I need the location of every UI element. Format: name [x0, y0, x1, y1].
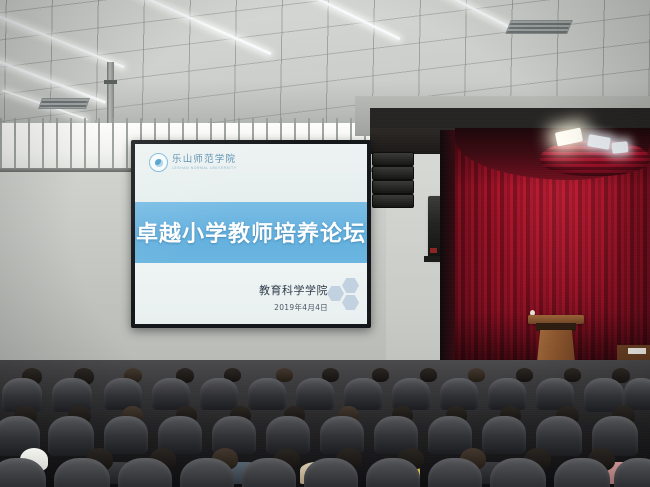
ceiling-air-vent-right [505, 20, 573, 34]
podium-neck [536, 323, 576, 331]
auditorium-seat [488, 378, 526, 410]
auditorium-photo: 乐山师范学院 LESHAN NORMAL UNIVERSITY 卓越小学教师培养… [0, 0, 650, 487]
presentation-slide: 乐山师范学院 LESHAN NORMAL UNIVERSITY 卓越小学教师培养… [135, 144, 367, 324]
auditorium-seat [104, 416, 148, 454]
line-array-speaker [372, 152, 412, 208]
side-table-paper [628, 348, 646, 354]
slide-title-band: 卓越小学教师培养论坛 [135, 202, 367, 263]
slide-title: 卓越小学教师培养论坛 [136, 216, 366, 248]
auditorium-seat [624, 378, 650, 410]
auditorium-seat [180, 458, 234, 487]
auditorium-seat [118, 458, 172, 487]
university-name-en: LESHAN NORMAL UNIVERSITY [172, 167, 237, 170]
speaker-brand-badge [430, 248, 437, 253]
auditorium-seat [428, 458, 482, 487]
seated-audience [0, 360, 650, 487]
university-emblem-icon [149, 153, 168, 172]
auditorium-seat [428, 416, 472, 454]
university-name-cn: 乐山师范学院 [172, 155, 237, 165]
auditorium-seat [392, 378, 430, 410]
ceiling-air-vent-left [38, 98, 90, 109]
auditorium-seat [440, 378, 478, 410]
slide-footer-band: 教育科学学院 2019年4月4日 [135, 263, 367, 324]
auditorium-seat [482, 416, 526, 454]
university-logo-text: 乐山师范学院 LESHAN NORMAL UNIVERSITY [172, 155, 237, 170]
auditorium-seat [304, 458, 358, 487]
auditorium-seat [48, 416, 94, 456]
slide-header-band: 乐山师范学院 LESHAN NORMAL UNIVERSITY [135, 144, 367, 202]
projector-pole-collar [104, 80, 117, 84]
auditorium-seat [200, 378, 238, 410]
screen-surface: 乐山师范学院 LESHAN NORMAL UNIVERSITY 卓越小学教师培养… [135, 144, 367, 324]
auditorium-seat [104, 378, 142, 410]
slide-date: 2019年4月4日 [274, 302, 328, 313]
slide-organization: 教育科学学院 [259, 282, 328, 298]
auditorium-seat [366, 458, 420, 487]
university-logo: 乐山师范学院 LESHAN NORMAL UNIVERSITY [149, 153, 237, 172]
auditorium-seat [296, 378, 334, 410]
projection-screen: 乐山师范学院 LESHAN NORMAL UNIVERSITY 卓越小学教师培养… [131, 140, 371, 328]
stage-spotlight-far [611, 141, 628, 154]
auditorium-seat [242, 458, 296, 487]
hexagon-decoration-icon [327, 278, 363, 318]
auditorium-seat [248, 378, 286, 410]
